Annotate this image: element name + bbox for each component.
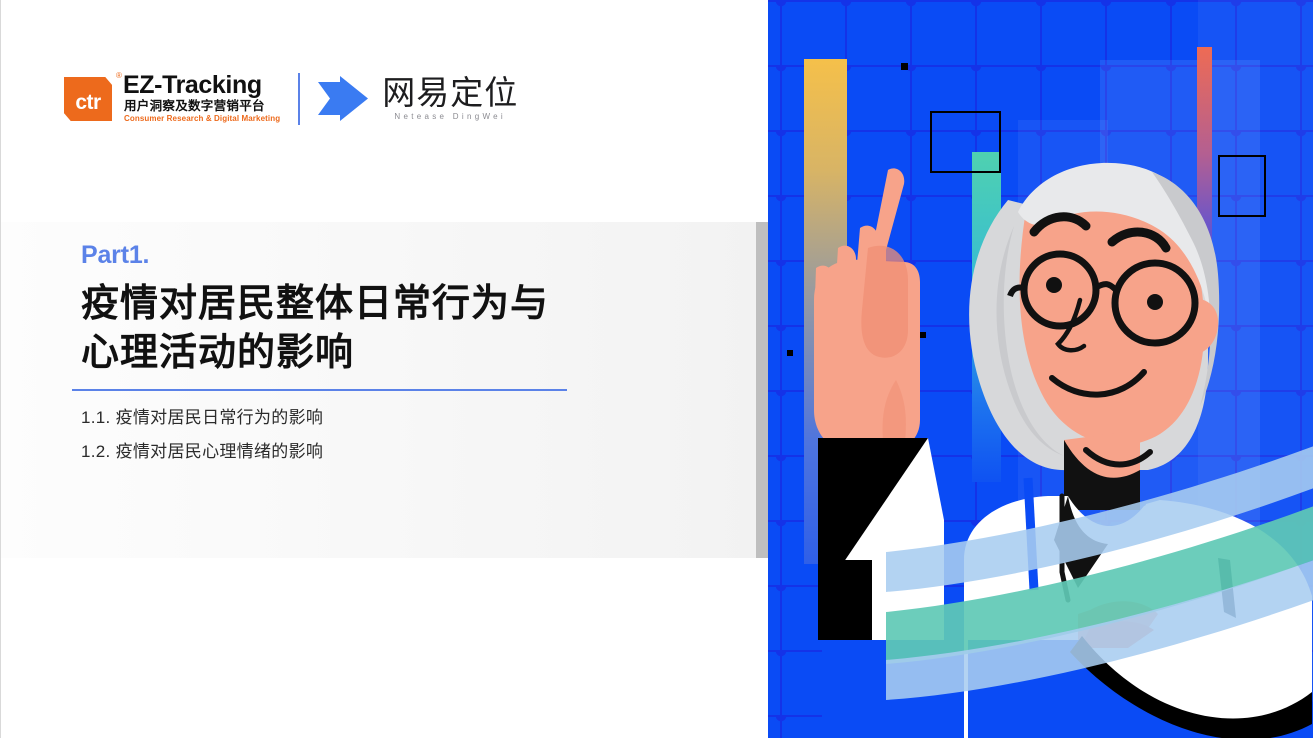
illustration-panel bbox=[768, 0, 1313, 738]
logo-bar: ctr ® EZ-Tracking 用户洞察及数字营销平台 Consumer R… bbox=[64, 68, 518, 130]
ctr-logo-text: ctr bbox=[75, 92, 100, 113]
slide-root: ctr ® EZ-Tracking 用户洞察及数字营销平台 Consumer R… bbox=[0, 0, 1313, 738]
registered-trademark-icon: ® bbox=[116, 71, 122, 80]
table-of-contents: 1.1. 疫情对居民日常行为的影响 1.2. 疫情对居民心理情绪的影响 bbox=[81, 401, 641, 469]
section-title-block: Part1. 疫情对居民整体日常行为与 心理活动的影响 bbox=[81, 240, 701, 379]
ez-tracking-brand-name: EZ-Tracking bbox=[123, 73, 280, 99]
netease-english-name: Netease DingWei bbox=[382, 111, 518, 122]
ez-tracking-chinese-tagline: 用户洞察及数字营销平台 bbox=[124, 99, 280, 115]
section-title: 疫情对居民整体日常行为与 心理活动的影响 bbox=[81, 280, 701, 379]
netease-logo: 网易定位 Netease DingWei bbox=[316, 76, 518, 123]
ez-tracking-english-tagline: Consumer Research & Digital Marketing bbox=[124, 114, 280, 124]
title-underline bbox=[72, 389, 567, 391]
part-label: Part1. bbox=[81, 240, 701, 270]
logo-divider-icon bbox=[298, 73, 300, 125]
ribbon-bands bbox=[768, 0, 1313, 738]
section-title-line-1: 疫情对居民整体日常行为与 bbox=[81, 280, 701, 329]
ez-tracking-wordmark: ® EZ-Tracking 用户洞察及数字营销平台 Consumer Resea… bbox=[116, 73, 280, 125]
netease-chinese-name: 网易定位 bbox=[382, 76, 518, 111]
toc-item-1[interactable]: 1.1. 疫情对居民日常行为的影响 bbox=[81, 401, 641, 435]
section-title-line-2: 心理活动的影响 bbox=[81, 329, 701, 378]
ctr-logo-mark: ctr bbox=[64, 77, 112, 121]
toc-item-2[interactable]: 1.2. 疫情对居民心理情绪的影响 bbox=[81, 435, 641, 469]
blue-arrow-right-icon bbox=[316, 76, 370, 122]
netease-wordmark: 网易定位 Netease DingWei bbox=[382, 76, 518, 123]
